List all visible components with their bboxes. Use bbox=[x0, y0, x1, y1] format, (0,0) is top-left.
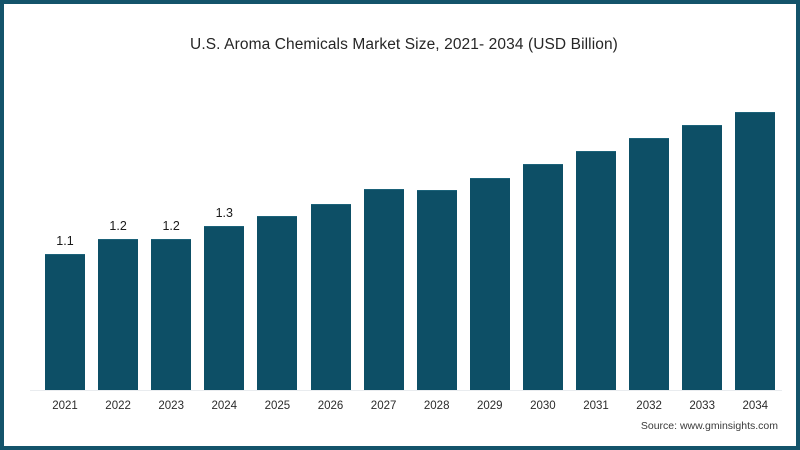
bar-value-label: 1.2 bbox=[139, 219, 203, 233]
bar bbox=[311, 204, 351, 390]
bar bbox=[470, 178, 510, 390]
bar-group: 1.22023 bbox=[151, 239, 191, 390]
plot-area: 1.120211.220221.220231.32024202520262027… bbox=[4, 4, 800, 450]
bar bbox=[682, 125, 722, 390]
chart-frame: U.S. Aroma Chemicals Market Size, 2021- … bbox=[0, 0, 800, 450]
bar bbox=[45, 254, 85, 390]
bar bbox=[364, 189, 404, 390]
bar-group: 2032 bbox=[629, 138, 669, 390]
source-attribution: Source: www.gminsights.com bbox=[641, 420, 778, 432]
bar bbox=[257, 216, 297, 390]
bar bbox=[735, 112, 775, 390]
bar-group: 2030 bbox=[523, 164, 563, 390]
bar-group: 1.12021 bbox=[45, 254, 85, 390]
bar bbox=[98, 239, 138, 390]
bar-group: 1.22022 bbox=[98, 239, 138, 390]
bar-value-label: 1.3 bbox=[192, 206, 256, 220]
bar-group: 2034 bbox=[735, 112, 775, 390]
bar-group: 2026 bbox=[311, 204, 351, 390]
bar bbox=[576, 151, 616, 390]
bar bbox=[629, 138, 669, 390]
bar-group: 2033 bbox=[682, 125, 722, 390]
bar bbox=[151, 239, 191, 390]
bar-group: 2025 bbox=[257, 216, 297, 390]
bar-value-label: 1.1 bbox=[33, 234, 97, 248]
bar bbox=[523, 164, 563, 390]
bar-group: 2029 bbox=[470, 178, 510, 390]
bar bbox=[204, 226, 244, 390]
bar bbox=[417, 190, 457, 390]
x-axis-tick-label: 2034 bbox=[721, 390, 789, 412]
bar-group: 2031 bbox=[576, 151, 616, 390]
bar-group: 2027 bbox=[364, 189, 404, 390]
bar-group: 2028 bbox=[417, 190, 457, 390]
bar-group: 1.32024 bbox=[204, 226, 244, 390]
